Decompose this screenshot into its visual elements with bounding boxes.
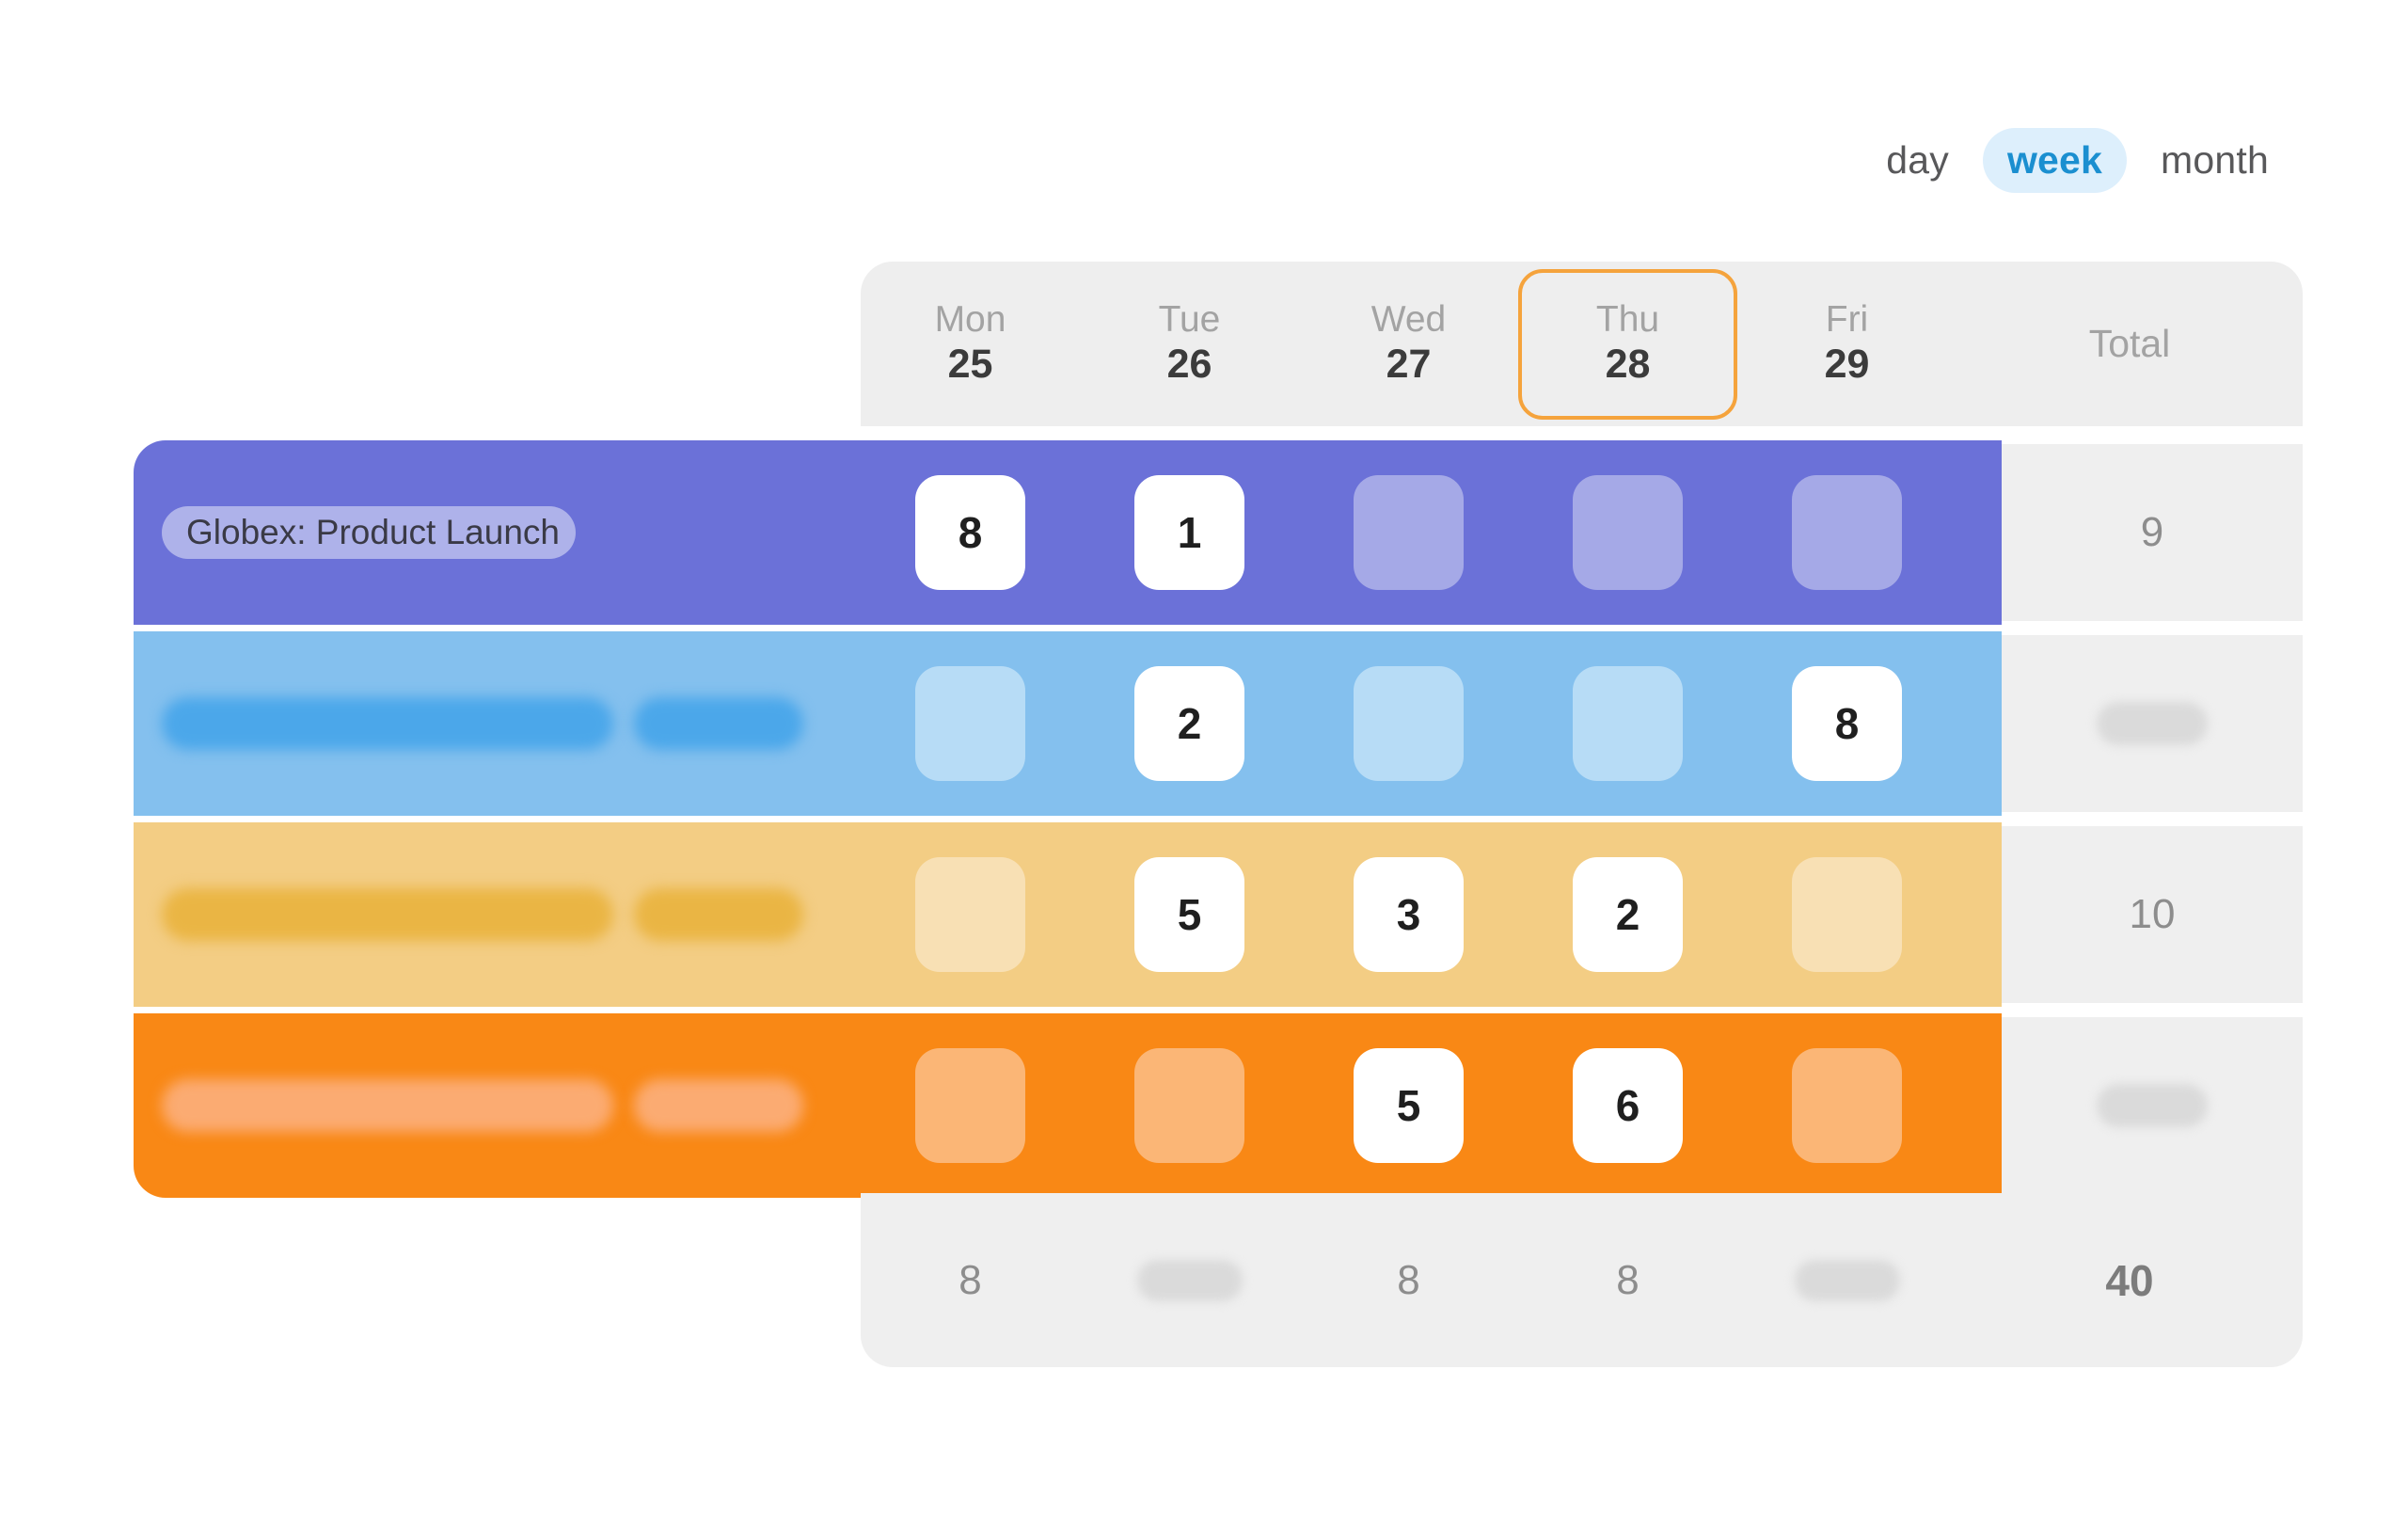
hours-cell-wed[interactable]: 5 (1299, 1013, 1518, 1198)
day-name: Thu (1596, 301, 1659, 340)
hours-cell-thu[interactable] (1518, 631, 1737, 816)
row-total: 10 (2002, 826, 2303, 1003)
hours-value[interactable]: 6 (1573, 1048, 1683, 1163)
row-total (2002, 635, 2303, 812)
day-number: 28 (1606, 343, 1651, 386)
project-name-pill-redacted[interactable] (162, 697, 613, 750)
project-task-pill-redacted[interactable] (634, 697, 803, 750)
project-label-area[interactable] (162, 822, 803, 1007)
hours-cell-mon[interactable] (861, 822, 1080, 1007)
row-day-cells: 56 (861, 1013, 1956, 1198)
hours-empty-slot[interactable] (915, 666, 1025, 781)
day-header-wed[interactable]: Wed27 (1299, 262, 1518, 426)
day-total-thu: 8 (1518, 1193, 1737, 1367)
hours-empty-slot[interactable] (1573, 666, 1683, 781)
hours-cell-tue[interactable]: 1 (1080, 440, 1299, 625)
day-name: Mon (935, 301, 1006, 340)
row-total-redacted (2097, 702, 2208, 745)
day-header-thu[interactable]: Thu28 (1518, 269, 1737, 420)
weekday-header-row: Mon25Tue26Wed27Thu28Fri29Total (861, 262, 2303, 426)
grand-total: 40 (1956, 1193, 2303, 1367)
project-label-area[interactable]: Globex: Product Launch (162, 440, 576, 625)
day-name: Wed (1371, 301, 1447, 340)
row-total (2002, 1017, 2303, 1194)
hours-value[interactable]: 2 (1573, 857, 1683, 972)
hours-empty-slot[interactable] (1792, 857, 1902, 972)
hours-cell-tue[interactable] (1080, 1013, 1299, 1198)
hours-empty-slot[interactable] (1792, 1048, 1902, 1163)
hours-empty-slot[interactable] (1354, 666, 1464, 781)
hours-cell-mon[interactable] (861, 1013, 1080, 1198)
timesheet-grid: Mon25Tue26Wed27Thu28Fri29Total Globex: P… (0, 0, 2408, 1513)
row-total-redacted (2097, 1084, 2208, 1127)
hours-cell-mon[interactable]: 8 (861, 440, 1080, 625)
day-header-mon[interactable]: Mon25 (861, 262, 1080, 426)
hours-value[interactable]: 1 (1134, 475, 1244, 590)
hours-cell-fri[interactable] (1737, 440, 1956, 625)
day-header-fri[interactable]: Fri29 (1737, 262, 1956, 426)
table-row[interactable]: 28 (134, 631, 2002, 816)
hours-cell-thu[interactable]: 2 (1518, 822, 1737, 1007)
day-name: Tue (1159, 301, 1221, 340)
hours-cell-wed[interactable] (1299, 631, 1518, 816)
row-day-cells: 28 (861, 631, 1956, 816)
hours-cell-thu[interactable] (1518, 440, 1737, 625)
hours-cell-fri[interactable] (1737, 822, 1956, 1007)
day-number: 26 (1167, 343, 1212, 386)
day-header-tue[interactable]: Tue26 (1080, 262, 1299, 426)
hours-empty-slot[interactable] (1354, 475, 1464, 590)
hours-empty-slot[interactable] (1573, 475, 1683, 590)
day-total-wed: 8 (1299, 1193, 1518, 1367)
total-column-header: Total (1956, 262, 2303, 426)
day-total-mon: 8 (861, 1193, 1080, 1367)
hours-value[interactable]: 3 (1354, 857, 1464, 972)
row-day-cells: 532 (861, 822, 1956, 1007)
hours-cell-thu[interactable]: 6 (1518, 1013, 1737, 1198)
hours-value[interactable]: 5 (1134, 857, 1244, 972)
project-name-pill[interactable]: Globex: Product Launch (162, 506, 576, 559)
row-total: 9 (2002, 444, 2303, 621)
hours-value[interactable]: 5 (1354, 1048, 1464, 1163)
day-name: Fri (1826, 301, 1868, 340)
daily-totals-row: 88840 (861, 1193, 2303, 1367)
day-number: 27 (1386, 343, 1432, 386)
project-name-pill-redacted[interactable] (162, 888, 613, 941)
project-task-pill-redacted[interactable] (634, 888, 803, 941)
hours-cell-mon[interactable] (861, 631, 1080, 816)
day-total-redacted (1137, 1260, 1243, 1301)
day-number: 25 (948, 343, 993, 386)
project-label-area[interactable] (162, 631, 803, 816)
hours-cell-tue[interactable]: 5 (1080, 822, 1299, 1007)
table-row[interactable]: 56 (134, 1013, 2002, 1198)
project-name-pill-redacted[interactable] (162, 1079, 613, 1132)
table-row[interactable]: 532 (134, 822, 2002, 1007)
hours-empty-slot[interactable] (915, 1048, 1025, 1163)
hours-cell-wed[interactable]: 3 (1299, 822, 1518, 1007)
hours-cell-fri[interactable] (1737, 1013, 1956, 1198)
row-day-cells: 81 (861, 440, 1956, 625)
day-total-redacted (1795, 1260, 1900, 1301)
hours-cell-fri[interactable]: 8 (1737, 631, 1956, 816)
day-number: 29 (1825, 343, 1870, 386)
hours-empty-slot[interactable] (1792, 475, 1902, 590)
hours-value[interactable]: 8 (915, 475, 1025, 590)
hours-cell-wed[interactable] (1299, 440, 1518, 625)
project-label-area[interactable] (162, 1013, 803, 1198)
table-row[interactable]: Globex: Product Launch81 (134, 440, 2002, 625)
hours-empty-slot[interactable] (915, 857, 1025, 972)
day-total-fri (1737, 1193, 1956, 1367)
hours-cell-tue[interactable]: 2 (1080, 631, 1299, 816)
project-task-pill-redacted[interactable] (634, 1079, 803, 1132)
day-total-tue (1080, 1193, 1299, 1367)
hours-value[interactable]: 8 (1792, 666, 1902, 781)
hours-empty-slot[interactable] (1134, 1048, 1244, 1163)
hours-value[interactable]: 2 (1134, 666, 1244, 781)
